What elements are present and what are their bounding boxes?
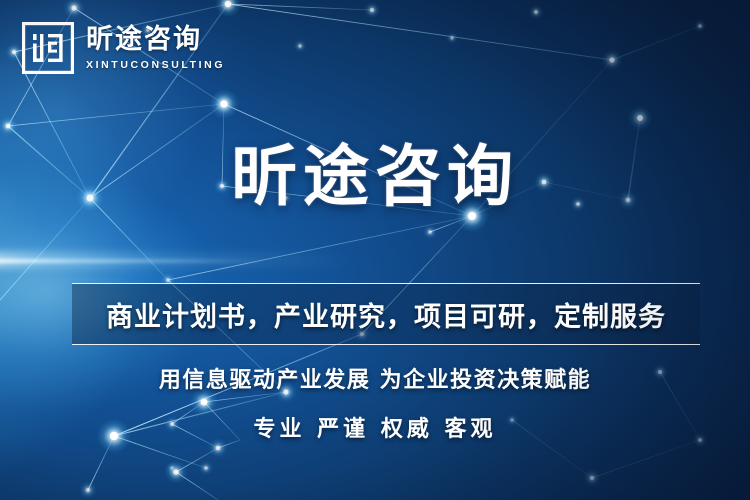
- xintu-square-logo-icon: [22, 22, 74, 74]
- logo-chinese-name: 昕途咨询: [86, 26, 225, 53]
- page-title: 昕途咨询: [0, 140, 750, 214]
- promotional-banner: 昕途咨询 XINTUCONSULTING 昕途咨询 商业计划书，产业研究，项目可…: [0, 0, 750, 500]
- logo-wordmark: 昕途咨询 XINTUCONSULTING: [86, 26, 225, 71]
- logo-english-name: XINTUCONSULTING: [86, 60, 225, 71]
- tagline-keywords: 专业 严谨 权威 客观: [0, 411, 750, 443]
- tagline-primary: 用信息驱动产业发展 为企业投资决策赋能: [0, 362, 750, 394]
- services-band-text: 商业计划书，产业研究，项目可研，定制服务: [106, 295, 666, 334]
- brand-logo[interactable]: 昕途咨询 XINTUCONSULTING: [22, 22, 225, 74]
- services-band: 商业计划书，产业研究，项目可研，定制服务: [72, 283, 700, 345]
